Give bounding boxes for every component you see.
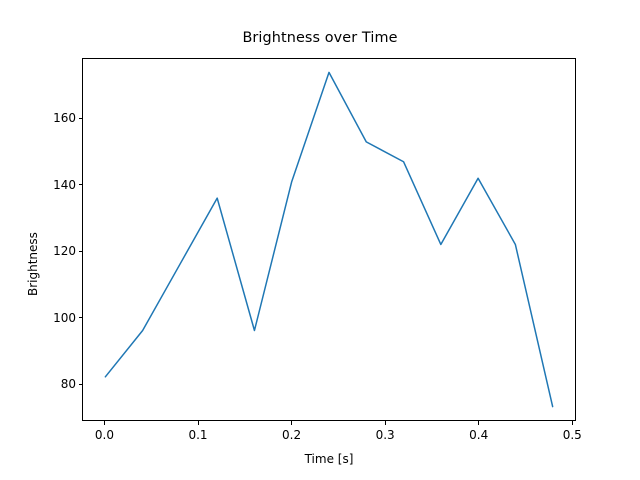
y-axis-label: Brightness [26,232,40,296]
x-axis-label: Time [s] [82,452,576,466]
brightness-line [105,72,552,406]
y-tick-label: 140 [30,178,76,192]
y-tick-mark [79,384,83,385]
y-tick-mark [79,184,83,185]
x-tick-label: 0.5 [549,428,595,442]
x-tick-mark [104,421,105,425]
y-tick-label: 80 [30,377,76,391]
figure-canvas: Brightness over Time 80100120140160 0.00… [0,0,640,480]
y-tick-label: 100 [30,311,76,325]
line-series-svg [83,59,575,420]
plot-axes [82,58,576,421]
y-tick-label: 160 [30,111,76,125]
x-tick-mark [478,421,479,425]
x-tick-label: 0.3 [362,428,408,442]
x-tick-mark [385,421,386,425]
x-tick-label: 0.1 [175,428,221,442]
y-tick-mark [79,317,83,318]
x-tick-mark [198,421,199,425]
x-tick-label: 0.4 [456,428,502,442]
y-tick-mark [79,118,83,119]
x-tick-label: 0.2 [269,428,315,442]
chart-title: Brightness over Time [0,30,640,46]
x-tick-mark [572,421,573,425]
y-tick-mark [79,251,83,252]
x-tick-label: 0.0 [81,428,127,442]
x-tick-mark [291,421,292,425]
